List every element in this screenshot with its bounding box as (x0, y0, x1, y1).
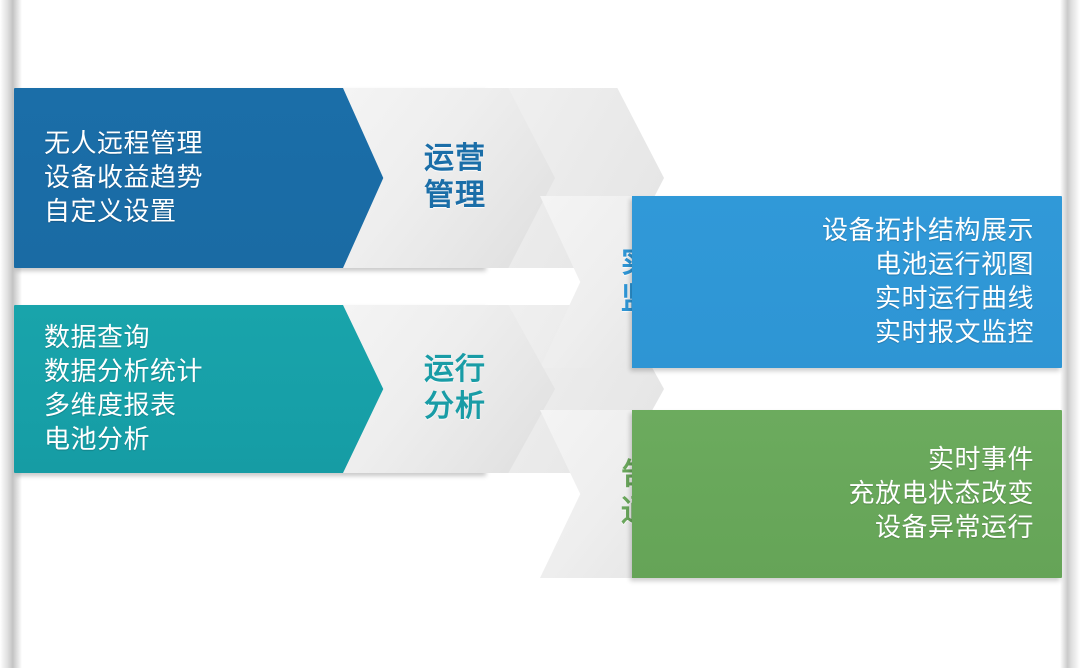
bar-realtime-monitor[interactable]: 设备拓扑结构展示 电池运行视图 实时运行曲线 实时报文监控 (632, 196, 1062, 368)
hexagon-operation-management-label: 运营 管理 (424, 141, 486, 214)
bar-alarm-notification[interactable]: 实时事件 充放电状态改变 设备异常运行 (632, 410, 1062, 578)
bar-alarm-notification-text: 实时事件 充放电状态改变 设备异常运行 (848, 443, 1062, 544)
bar-operation-management-text: 无人远程管理 设备收益趋势 自定义设置 (14, 127, 203, 228)
bar-realtime-monitor-text: 设备拓扑结构展示 电池运行视图 实时运行曲线 实时报文监控 (822, 214, 1062, 349)
bar-operation-analysis-text: 数据查询 数据分析统计 多维度报表 电池分析 (14, 321, 203, 456)
slide-right-edge-shadow (1060, 0, 1080, 668)
diagram-canvas: 无人远程管理 设备收益趋势 自定义设置 运营 管理 实时 监控 设备拓扑结构展示… (0, 0, 1080, 668)
hexagon-operation-analysis-label: 运行 分析 (424, 352, 486, 425)
